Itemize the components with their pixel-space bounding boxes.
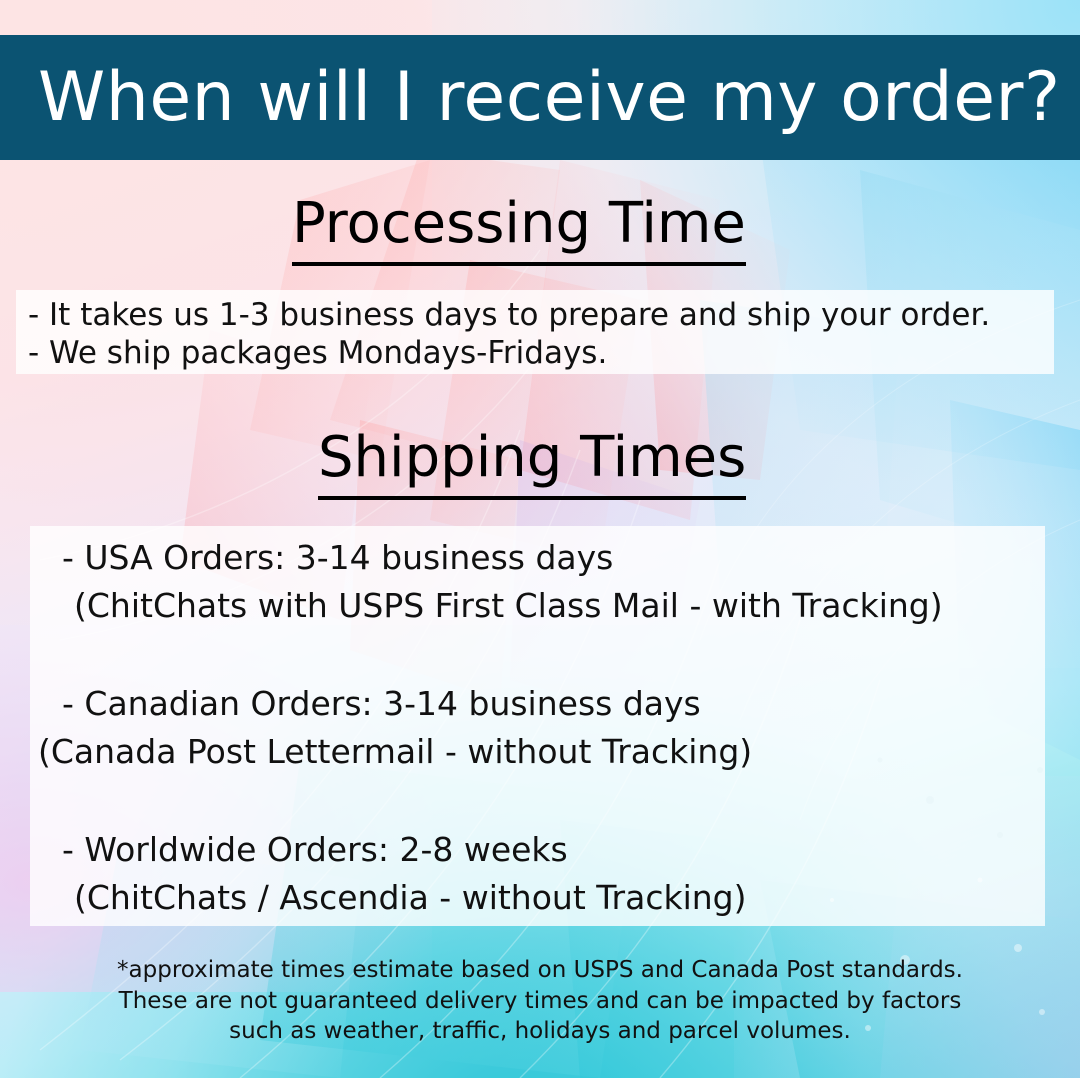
shipping-entry-usa-line-2: (ChitChats with USPS First Class Mail - … bbox=[74, 586, 943, 625]
section-heading-processing-time: Processing Time bbox=[292, 196, 746, 252]
shipping-policy-poster: When will I receive my order? Processing… bbox=[0, 0, 1080, 1078]
processing-time-line-2: - We ship packages Mondays-Fridays. bbox=[28, 338, 607, 369]
section-heading-processing-time-text: Processing Time bbox=[292, 191, 746, 266]
section-heading-shipping-times: Shipping Times bbox=[318, 430, 746, 486]
processing-time-line-1: - It takes us 1-3 business days to prepa… bbox=[28, 300, 990, 331]
shipping-entry-usa-line-1: - USA Orders: 3-14 business days bbox=[62, 538, 613, 577]
footer-disclaimer-line-1: *approximate times estimate based on USP… bbox=[0, 955, 1080, 986]
shipping-entry-worldwide-line-1: - Worldwide Orders: 2-8 weeks bbox=[62, 830, 568, 869]
processing-time-text-band: - It takes us 1-3 business days to prepa… bbox=[16, 290, 1054, 374]
shipping-entry-canada-line-2: (Canada Post Lettermail - without Tracki… bbox=[38, 732, 752, 771]
shipping-entry-canada-line-1: - Canadian Orders: 3-14 business days bbox=[62, 684, 701, 723]
header-banner: When will I receive my order? bbox=[0, 35, 1080, 160]
shipping-entry-worldwide-line-2: (ChitChats / Ascendia - without Tracking… bbox=[74, 878, 747, 917]
page-title: When will I receive my order? bbox=[0, 64, 1061, 132]
shipping-times-text-band: - USA Orders: 3-14 business days (ChitCh… bbox=[30, 526, 1045, 926]
footer-disclaimer-line-3: such as weather, traffic, holidays and p… bbox=[0, 1016, 1080, 1047]
section-heading-shipping-times-text: Shipping Times bbox=[318, 425, 746, 500]
footer-disclaimer-line-2: These are not guaranteed delivery times … bbox=[0, 986, 1080, 1017]
footer-disclaimer: *approximate times estimate based on USP… bbox=[0, 955, 1080, 1047]
